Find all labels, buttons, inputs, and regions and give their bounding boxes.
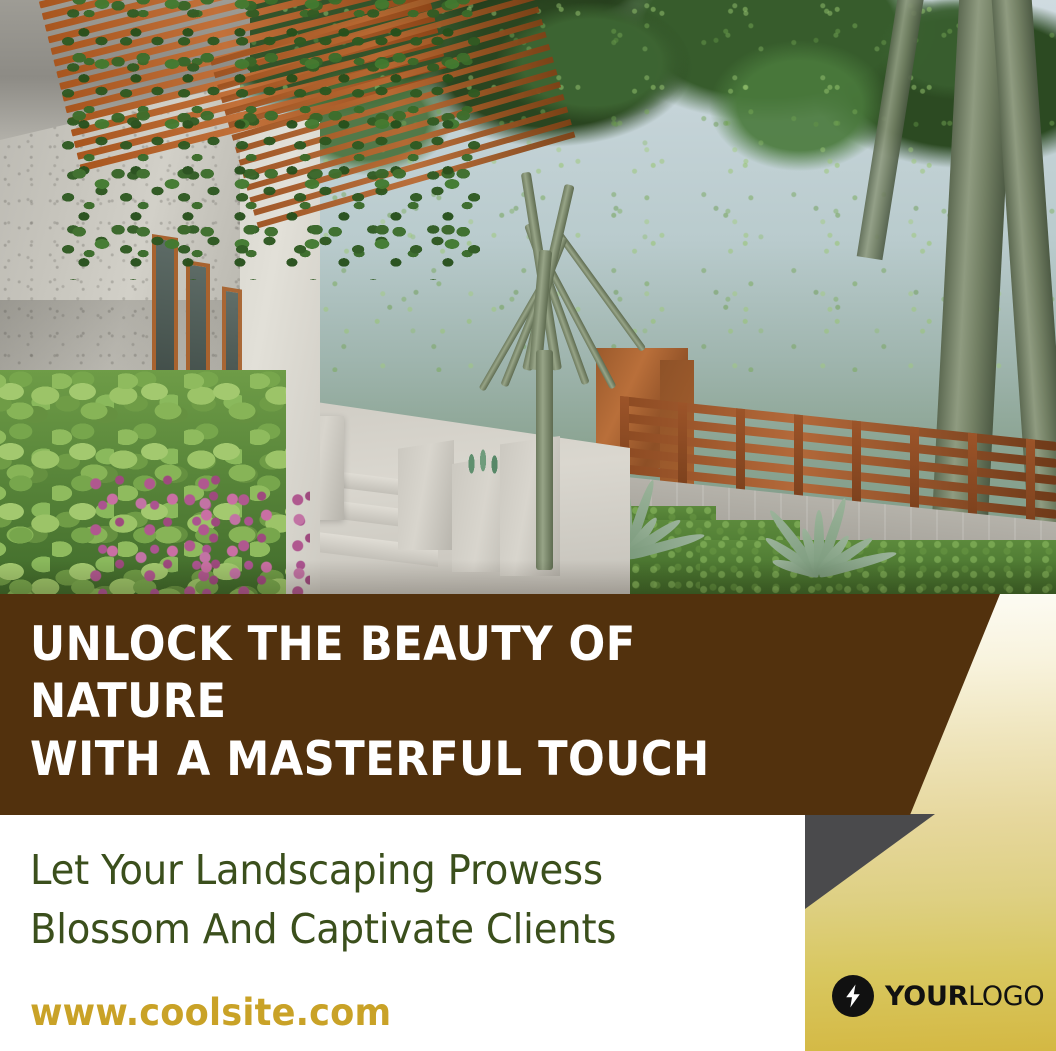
tree-trunk bbox=[536, 350, 553, 570]
hero-photo bbox=[0, 0, 1056, 600]
headline: Unlock The Beauty Of Nature With A Maste… bbox=[30, 616, 821, 788]
subheadline: Let Your Landscaping Prowess Blossom And… bbox=[30, 841, 730, 960]
logo-name-bold: YOUR bbox=[885, 981, 968, 1012]
concrete-planter bbox=[398, 440, 454, 550]
logo-name-light: LOGO bbox=[968, 981, 1044, 1012]
footer-section: Let Your Landscaping Prowess Blossom And… bbox=[0, 815, 805, 1051]
lightning-bolt-icon bbox=[832, 975, 874, 1017]
headline-band: Unlock The Beauty Of Nature With A Maste… bbox=[0, 594, 1056, 815]
climbing-vine bbox=[60, 0, 480, 280]
logo-wordmark: YOURLOGO bbox=[885, 983, 1044, 1010]
headline-line-1: Unlock The Beauty Of Nature bbox=[30, 616, 821, 731]
promo-poster: Unlock The Beauty Of Nature With A Maste… bbox=[0, 0, 1056, 1051]
website-url[interactable]: www.coolsite.com bbox=[30, 991, 391, 1034]
subheadline-line-2: Blossom And Captivate Clients bbox=[30, 900, 730, 959]
multi-trunk-tree bbox=[470, 140, 690, 570]
headline-line-2: With A Masterful Touch bbox=[30, 731, 821, 788]
subheadline-line-1: Let Your Landscaping Prowess bbox=[30, 841, 730, 900]
logo[interactable]: YOURLOGO bbox=[832, 975, 1044, 1017]
